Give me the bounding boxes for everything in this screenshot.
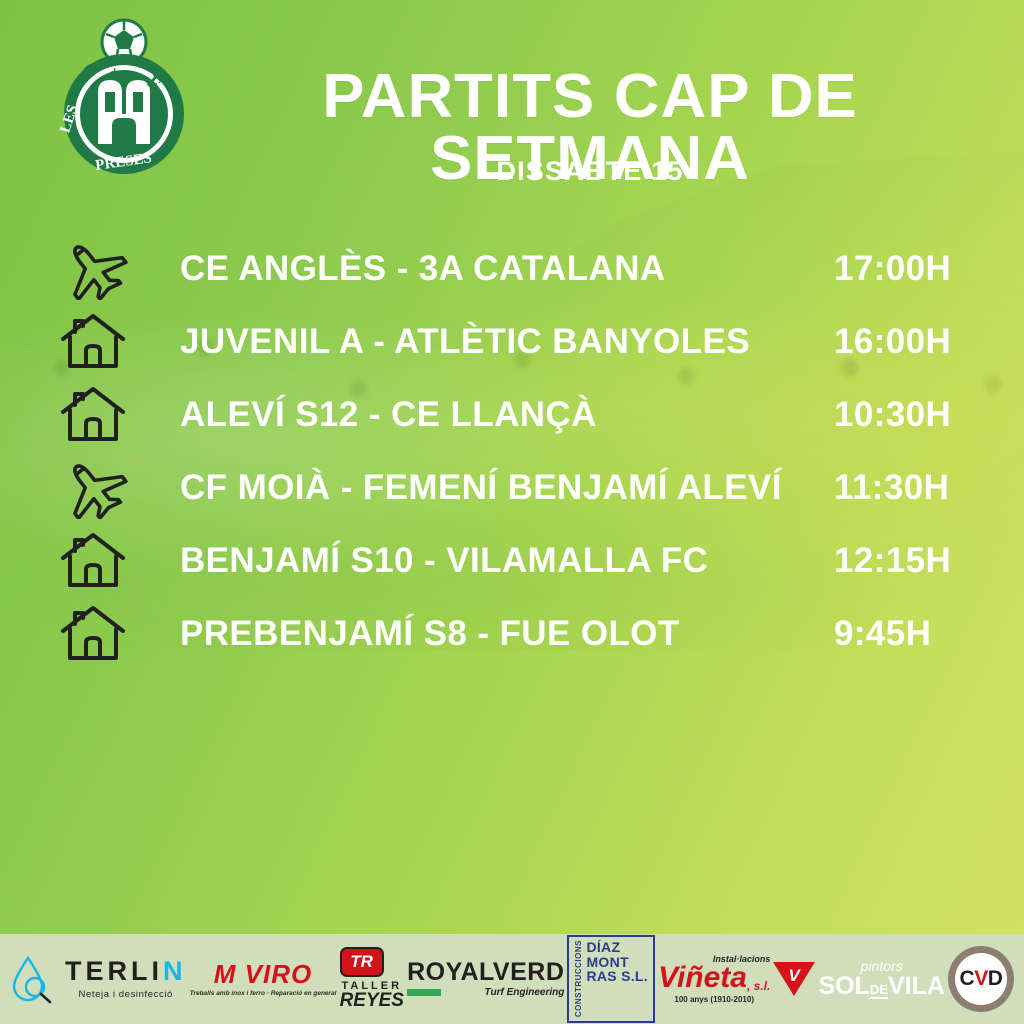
match-time: 17:00H (834, 250, 1024, 288)
match-time: 12:15H (834, 542, 1024, 580)
match-name: PREBENJAMÍ S8 - FUE OLOT (180, 615, 834, 653)
sponsor-vineta-mark-letter: V (788, 966, 799, 986)
table-row: BENJAMÍ S10 - VILAMALLA FC 12:15H (0, 524, 1024, 597)
airplane-icon (0, 238, 180, 300)
sponsor-diaz-mont-ras: CONSTRUCCIONS DÍAZ MONT RAS S.L. (567, 942, 655, 1016)
crest-text-de: de (110, 67, 121, 79)
sponsor-terlin-tagline: Neteja i desinfecció (65, 989, 187, 1000)
triangle-v-icon: V (773, 962, 815, 996)
match-name: ALEVÍ S12 - CE LLANÇÀ (180, 396, 834, 434)
sponsor-vineta-name: Viñeta (658, 964, 747, 993)
sponsor-moviro-name: M VIRO (190, 961, 337, 987)
house-icon (0, 385, 180, 445)
table-row: CF MOIÀ - FEMENÍ BENJAMÍ ALEVÍ 11:30H (0, 451, 1024, 524)
poster: C. F. de LES PRESES PARTITS CAP DE SETMA… (0, 0, 1024, 1024)
table-row: ALEVÍ S12 - CE LLANÇÀ 10:30H (0, 378, 1024, 451)
sponsor-moviro-tagline: Treballs amb inox i ferro · Reparació en… (190, 990, 337, 997)
match-name: CF MOIÀ - FEMENÍ BENJAMÍ ALEVÍ (180, 469, 834, 507)
sponsor-terlin: TERLIN Neteja i desinfecció (10, 942, 187, 1016)
match-time: 10:30H (834, 396, 1024, 434)
sponsor-cvd-text: CVD (955, 953, 1007, 1005)
sponsor-royalverd: ROYALVERD Turf Engineering (407, 942, 564, 1016)
sponsor-royalverd-tagline: Turf Engineering (485, 987, 565, 998)
match-time: 11:30H (834, 469, 1024, 507)
airplane-icon (0, 457, 180, 519)
match-time: 9:45H (834, 615, 1024, 653)
match-name: BENJAMÍ S10 - VILAMALLA FC (180, 542, 834, 580)
sponsor-diaz-vertical: CONSTRUCCIONS (574, 940, 583, 1017)
match-name: CE ANGLÈS - 3A CATALANA (180, 250, 834, 288)
sponsor-reyes-line2: REYES (340, 992, 404, 1010)
match-name: JUVENIL A - ATLÈTIC BANYOLES (180, 323, 834, 361)
header: C. F. de LES PRESES PARTITS CAP DE SETMA… (0, 0, 1024, 190)
sponsor-bar: TERLIN Neteja i desinfecció M VIRO Treba… (0, 934, 1024, 1024)
sponsor-royalverd-name: ROYALVERD (407, 960, 564, 985)
house-icon (0, 604, 180, 664)
match-time: 16:00H (834, 323, 1024, 361)
house-icon (0, 531, 180, 591)
sponsor-reyes-badge: TR (340, 947, 384, 977)
sponsor-vineta-suffix: , s.l. (747, 979, 770, 993)
sponsor-vineta-tagline: 100 anys (1910-2010) (658, 995, 770, 1004)
house-icon (0, 312, 180, 372)
table-row: CE ANGLÈS - 3A CATALANA 17:00H (0, 232, 1024, 305)
water-drop-magnifier-icon (10, 954, 54, 1004)
sponsor-moviro: M VIRO Treballs amb inox i ferro · Repar… (190, 942, 337, 1016)
page-subtitle: DISSABTE 15 (190, 158, 990, 185)
table-row: PREBENJAMÍ S8 - FUE OLOT 9:45H (0, 597, 1024, 670)
sponsor-soldevila: pintors SOLDEVILA (818, 942, 944, 1016)
sponsor-vineta: Instal·lacions Viñeta , s.l. 100 anys (1… (658, 942, 770, 1016)
sponsor-royalverd-bar (407, 989, 441, 996)
sponsor-terlin-name: TERLIN (65, 958, 187, 985)
club-crest: C. F. de LES PRESES (58, 18, 190, 178)
sponsor-diaz-line2: MONT (586, 955, 648, 969)
sponsor-soldevila-name: SOLDEVILA (818, 974, 944, 999)
sponsor-vineta-mark: V (773, 942, 815, 1016)
sponsor-diaz-line1: DÍAZ (586, 940, 648, 954)
sponsor-soldevila-top: pintors (818, 959, 944, 973)
sponsor-taller-reyes: TR TALLER REYES (340, 942, 404, 1016)
table-row: JUVENIL A - ATLÈTIC BANYOLES 16:00H (0, 305, 1024, 378)
sponsor-cvd: CVD (948, 942, 1014, 1016)
match-list: CE ANGLÈS - 3A CATALANA 17:00H JUVENIL A… (0, 232, 1024, 670)
sponsor-diaz-line3: RAS S.L. (586, 969, 648, 983)
cvd-logo: CVD (948, 946, 1014, 1012)
